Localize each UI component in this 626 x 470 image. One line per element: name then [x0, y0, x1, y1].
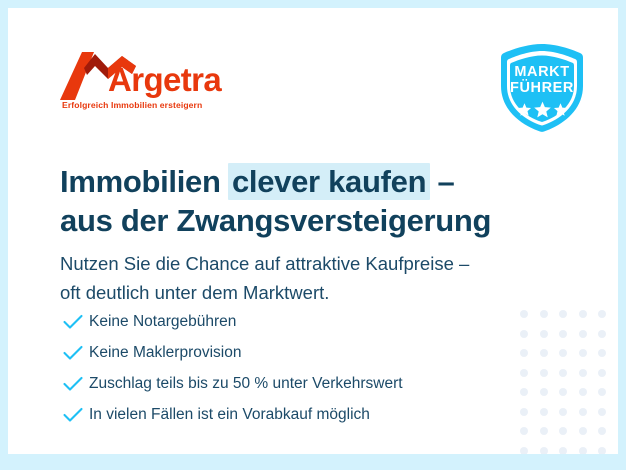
brand-tagline: Erfolgreich Immobilien ersteigern	[62, 100, 202, 110]
headline-part-after: –	[429, 164, 454, 199]
subheadline: Nutzen Sie die Chance auf attraktive Kau…	[60, 249, 469, 307]
list-item-label: Keine Maklerprovision	[89, 344, 242, 362]
page-title: Immobilien clever kaufen – aus der Zwang…	[60, 162, 491, 240]
dot	[520, 388, 528, 396]
list-item: Zuschlag teils bis zu 50 % unter Verkehr…	[63, 368, 403, 399]
dot	[540, 349, 548, 357]
dot	[598, 427, 606, 435]
dot	[559, 349, 567, 357]
dot	[598, 330, 606, 338]
check-icon	[63, 376, 89, 392]
dot	[520, 330, 528, 338]
promo-banner: Argetra Erfolgreich Immobilien ersteiger…	[0, 0, 626, 470]
dot	[579, 369, 587, 377]
check-icon	[63, 407, 89, 423]
headline-part-before: Immobilien	[60, 164, 229, 199]
dot	[540, 310, 548, 318]
dot	[598, 408, 606, 416]
dot	[540, 408, 548, 416]
dot	[540, 427, 548, 435]
dot	[559, 310, 567, 318]
dot	[540, 330, 548, 338]
headline-line-2: aus der Zwangsversteigerung	[60, 203, 491, 238]
check-icon	[63, 345, 89, 361]
dot	[540, 388, 548, 396]
dot	[579, 349, 587, 357]
subheadline-line-2: oft deutlich unter dem Marktwert.	[60, 282, 329, 303]
dot	[598, 369, 606, 377]
list-item: Keine Maklerprovision	[63, 337, 403, 368]
list-item-label: In vielen Fällen ist ein Vorabkauf mögli…	[89, 406, 370, 424]
headline-line-1: Immobilien clever kaufen –	[60, 164, 455, 199]
subheadline-line-1: Nutzen Sie die Chance auf attraktive Kau…	[60, 253, 469, 274]
list-item: In vielen Fällen ist ein Vorabkauf mögli…	[63, 399, 403, 430]
dot	[559, 408, 567, 416]
shield-badge-icon	[495, 42, 589, 134]
dot	[579, 310, 587, 318]
banner-card: Argetra Erfolgreich Immobilien ersteiger…	[8, 8, 618, 454]
dot	[598, 447, 606, 455]
dot	[520, 369, 528, 377]
list-item: Keine Notargebühren	[63, 306, 403, 337]
list-item-label: Zuschlag teils bis zu 50 % unter Verkehr…	[89, 375, 403, 393]
dot	[520, 349, 528, 357]
dot	[540, 447, 548, 455]
dot	[540, 369, 548, 377]
dot	[559, 427, 567, 435]
dot	[579, 408, 587, 416]
brand-name: Argetra	[108, 63, 221, 96]
dot	[579, 330, 587, 338]
check-icon	[63, 314, 89, 330]
dot	[520, 408, 528, 416]
benefit-list: Keine Notargebühren Keine Maklerprovisio…	[63, 306, 403, 430]
dot	[559, 369, 567, 377]
headline-highlight: clever kaufen	[228, 163, 430, 200]
dot	[559, 447, 567, 455]
dot	[579, 388, 587, 396]
market-leader-badge: MARKT FÜHRER	[495, 42, 589, 134]
decorative-dot-grid	[520, 310, 618, 454]
dot	[579, 427, 587, 435]
list-item-label: Keine Notargebühren	[89, 313, 236, 331]
dot	[598, 349, 606, 357]
dot	[579, 447, 587, 455]
brand-logo: Argetra Erfolgreich Immobilien ersteiger…	[60, 52, 260, 114]
dot	[598, 310, 606, 318]
dot	[520, 427, 528, 435]
dot	[559, 388, 567, 396]
dot	[598, 388, 606, 396]
dot	[520, 310, 528, 318]
dot	[559, 330, 567, 338]
dot	[520, 447, 528, 455]
